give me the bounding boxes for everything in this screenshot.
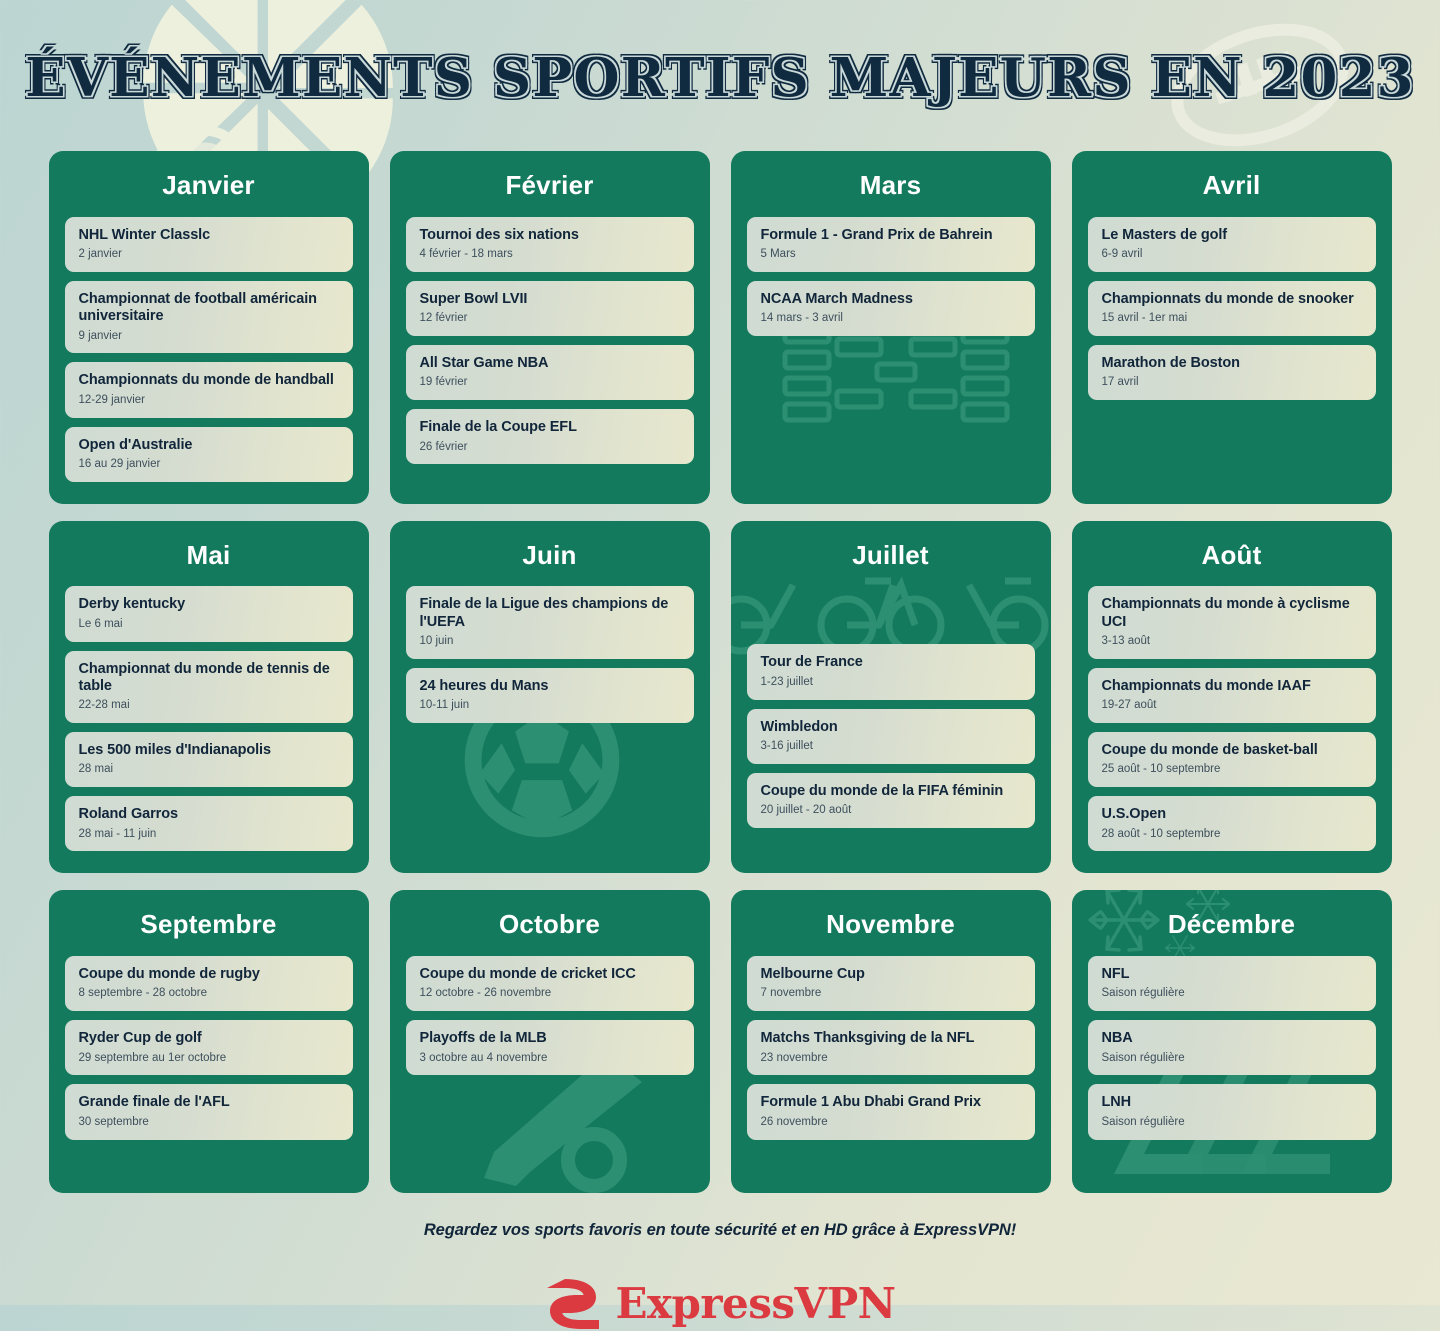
event-name: Matchs Thanksgiving de la NFL	[761, 1030, 1023, 1047]
event-date: Le 6 mai	[79, 618, 341, 632]
event-date: 4 février - 18 mars	[420, 248, 682, 262]
event-tile[interactable]: 24 heures du Mans 10-11 juin	[406, 668, 694, 723]
event-tile[interactable]: Les 500 miles d'Indianapolis 28 mai	[65, 732, 353, 787]
event-date: 28 mai - 11 juin	[79, 828, 341, 842]
event-date: Saison régulière	[1102, 1052, 1364, 1066]
event-tile[interactable]: Open d'Australie 16 au 29 janvier	[65, 427, 353, 482]
event-name: Open d'Australie	[79, 437, 341, 454]
event-name: LNH	[1102, 1094, 1364, 1111]
month-card-avril: Avril Le Masters de golf 6-9 avril Champ…	[1072, 151, 1392, 504]
event-date: 12 octobre - 26 novembre	[420, 987, 682, 1001]
month-title: Octobre	[406, 910, 694, 939]
event-date: 15 avril - 1er mai	[1102, 312, 1364, 326]
event-name: Finale de la Coupe EFL	[420, 419, 682, 436]
footer: Regardez vos sports favoris en toute séc…	[0, 1221, 1440, 1331]
event-tile[interactable]: Formule 1 Abu Dhabi Grand Prix 26 novemb…	[747, 1084, 1035, 1139]
event-name: Formule 1 - Grand Prix de Bahrein	[761, 227, 1023, 244]
event-date: 5 Mars	[761, 248, 1023, 262]
event-date: 3-13 août	[1102, 635, 1364, 649]
month-title: Septembre	[65, 910, 353, 939]
month-card-juin: Juin Finale de la Ligue des champions de…	[390, 521, 710, 874]
expressvpn-logo[interactable]: ExpressVPN	[0, 1277, 1440, 1331]
event-tile[interactable]: Coupe du monde de basket-ball 25 août - …	[1088, 732, 1376, 787]
event-tile[interactable]: U.S.Open 28 août - 10 septembre	[1088, 796, 1376, 851]
event-name: NCAA March Madness	[761, 291, 1023, 308]
event-date: Saison régulière	[1102, 1116, 1364, 1130]
event-name: Championnats du monde de handball	[79, 372, 341, 389]
event-date: 29 septembre au 1er octobre	[79, 1052, 341, 1066]
events-list: Coupe du monde de cricket ICC 12 octobre…	[406, 956, 694, 1075]
expressvpn-wordmark: ExpressVPN	[615, 1283, 895, 1325]
event-tile[interactable]: Coupe du monde de la FIFA féminin 20 jui…	[747, 773, 1035, 828]
event-tile[interactable]: Le Masters de golf 6-9 avril	[1088, 217, 1376, 272]
event-tile[interactable]: NFL Saison régulière	[1088, 956, 1376, 1011]
month-title: Décembre	[1088, 910, 1376, 939]
event-date: 1-23 juillet	[761, 676, 1023, 690]
event-date: 23 novembre	[761, 1052, 1023, 1066]
event-name: Le Masters de golf	[1102, 227, 1364, 244]
event-date: 7 novembre	[761, 987, 1023, 1001]
event-tile[interactable]: Championnats du monde de snooker 15 avri…	[1088, 281, 1376, 336]
month-card-mai: Mai Derby kentucky Le 6 mai Championnat …	[49, 521, 369, 874]
event-name: Marathon de Boston	[1102, 355, 1364, 372]
event-tile[interactable]: Derby kentucky Le 6 mai	[65, 586, 353, 641]
event-date: 17 avril	[1102, 376, 1364, 390]
event-date: 16 au 29 janvier	[79, 458, 341, 472]
event-date: 20 juillet - 20 août	[761, 804, 1023, 818]
event-name: NFL	[1102, 966, 1364, 983]
event-tile[interactable]: Tour de France 1-23 juillet	[747, 644, 1035, 699]
months-grid: Janvier NHL Winter Classlc 2 janvier Cha…	[0, 151, 1440, 1193]
event-name: Coupe du monde de basket-ball	[1102, 742, 1364, 759]
event-tile[interactable]: Super Bowl LVII 12 février	[406, 281, 694, 336]
events-list: NHL Winter Classlc 2 janvier Championnat…	[65, 217, 353, 482]
events-list: Finale de la Ligue des champions de l'UE…	[406, 586, 694, 723]
event-tile[interactable]: Matchs Thanksgiving de la NFL 23 novembr…	[747, 1020, 1035, 1075]
event-name: Ryder Cup de golf	[79, 1030, 341, 1047]
events-list: Coupe du monde de rugby 8 septembre - 28…	[65, 956, 353, 1140]
event-tile[interactable]: Championnats du monde de handball 12-29 …	[65, 362, 353, 417]
event-name: Coupe du monde de cricket ICC	[420, 966, 682, 983]
events-list: Melbourne Cup 7 novembre Matchs Thanksgi…	[747, 956, 1035, 1140]
event-date: 3 octobre au 4 novembre	[420, 1052, 682, 1066]
month-card-fevrier: Février Tournoi des six nations 4 févrie…	[390, 151, 710, 504]
event-name: U.S.Open	[1102, 806, 1364, 823]
month-title: Juin	[406, 541, 694, 570]
event-date: 26 février	[420, 441, 682, 455]
events-list: Championnats du monde à cyclisme UCI 3-1…	[1088, 586, 1376, 851]
event-name: Melbourne Cup	[761, 966, 1023, 983]
event-date: 12 février	[420, 312, 682, 326]
event-date: 25 août - 10 septembre	[1102, 763, 1364, 777]
month-card-septembre: Septembre Coupe du monde de rugby 8 sept…	[49, 890, 369, 1193]
month-title: Août	[1088, 541, 1376, 570]
event-date: 22-28 mai	[79, 699, 341, 713]
event-tile[interactable]: Finale de la Ligue des champions de l'UE…	[406, 586, 694, 659]
month-title: Novembre	[747, 910, 1035, 939]
event-name: NHL Winter Classlc	[79, 227, 341, 244]
month-title: Avril	[1088, 171, 1376, 200]
event-date: 9 janvier	[79, 330, 341, 344]
event-date: 19 février	[420, 376, 682, 390]
event-name: Formule 1 Abu Dhabi Grand Prix	[761, 1094, 1023, 1111]
event-name: Tour de France	[761, 654, 1023, 671]
event-name: Coupe du monde de la FIFA féminin	[761, 783, 1023, 800]
event-tile[interactable]: Championnat du monde de tennis de table …	[65, 651, 353, 724]
event-name: Coupe du monde de rugby	[79, 966, 341, 983]
event-name: Tournoi des six nations	[420, 227, 682, 244]
event-name: Championnats du monde IAAF	[1102, 678, 1364, 695]
event-name: Championnats du monde à cyclisme UCI	[1102, 596, 1364, 631]
month-title: Février	[406, 171, 694, 200]
footer-tagline: Regardez vos sports favoris en toute séc…	[0, 1221, 1440, 1240]
event-tile[interactable]: Finale de la Coupe EFL 26 février	[406, 409, 694, 464]
event-date: 14 mars - 3 avril	[761, 312, 1023, 326]
event-date: 19-27 août	[1102, 699, 1364, 713]
event-tile[interactable]: Championnats du monde IAAF 19-27 août	[1088, 668, 1376, 723]
month-card-janvier: Janvier NHL Winter Classlc 2 janvier Cha…	[49, 151, 369, 504]
event-name: Derby kentucky	[79, 596, 341, 613]
event-date: 2 janvier	[79, 248, 341, 262]
event-name: Roland Garros	[79, 806, 341, 823]
event-date: 26 novembre	[761, 1116, 1023, 1130]
event-name: Finale de la Ligue des champions de l'UE…	[420, 596, 682, 631]
event-date: 12-29 janvier	[79, 394, 341, 408]
event-date: 6-9 avril	[1102, 248, 1364, 262]
event-date: 10 juin	[420, 635, 682, 649]
event-date: 28 mai	[79, 763, 341, 777]
month-title: Juillet	[747, 541, 1035, 570]
event-name: Wimbledon	[761, 719, 1023, 736]
event-date: 28 août - 10 septembre	[1102, 828, 1364, 842]
event-tile[interactable]: Coupe du monde de cricket ICC 12 octobre…	[406, 956, 694, 1011]
event-tile[interactable]: Championnats du monde à cyclisme UCI 3-1…	[1088, 586, 1376, 659]
event-tile[interactable]: Grande finale de l'AFL 30 septembre	[65, 1084, 353, 1139]
event-tile[interactable]: Melbourne Cup 7 novembre	[747, 956, 1035, 1011]
event-tile[interactable]: Marathon de Boston 17 avril	[1088, 345, 1376, 400]
event-tile[interactable]: Roland Garros 28 mai - 11 juin	[65, 796, 353, 851]
event-name: Championnat de football américain univer…	[79, 291, 341, 326]
event-date: 30 septembre	[79, 1116, 341, 1130]
event-name: All Star Game NBA	[420, 355, 682, 372]
event-date: 8 septembre - 28 octobre	[79, 987, 341, 1001]
event-tile[interactable]: Ryder Cup de golf 29 septembre au 1er oc…	[65, 1020, 353, 1075]
event-tile[interactable]: Wimbledon 3-16 juillet	[747, 709, 1035, 764]
page-title: ÉVÉNEMENTS SPORTIFS MAJEURS EN 2023	[0, 0, 1440, 109]
event-name: 24 heures du Mans	[420, 678, 682, 695]
month-card-juillet: Juillet Tour de France 1-23 juillet Wimb…	[731, 521, 1051, 874]
event-tile[interactable]: Formule 1 - Grand Prix de Bahrein 5 Mars	[747, 217, 1035, 272]
event-name: Playoffs de la MLB	[420, 1030, 682, 1047]
events-list: Formule 1 - Grand Prix de Bahrein 5 Mars…	[747, 217, 1035, 336]
month-card-octobre: Octobre Coupe du monde de cricket ICC 12…	[390, 890, 710, 1193]
event-name: Super Bowl LVII	[420, 291, 682, 308]
event-name: Les 500 miles d'Indianapolis	[79, 742, 341, 759]
events-list: Derby kentucky Le 6 mai Championnat du m…	[65, 586, 353, 851]
month-card-mars: Mars Formule 1 - Grand Prix de Bahrein 5…	[731, 151, 1051, 504]
event-date: Saison régulière	[1102, 987, 1364, 1001]
month-title: Mai	[65, 541, 353, 570]
events-list: Tournoi des six nations 4 février - 18 m…	[406, 217, 694, 465]
month-card-novembre: Novembre Melbourne Cup 7 novembre Matchs…	[731, 890, 1051, 1193]
month-title: Janvier	[65, 171, 353, 200]
event-tile[interactable]: Championnat de football américain univer…	[65, 281, 353, 354]
expressvpn-mark-icon	[544, 1277, 602, 1331]
event-tile[interactable]: Coupe du monde de rugby 8 septembre - 28…	[65, 956, 353, 1011]
events-list: Tour de France 1-23 juillet Wimbledon 3-…	[747, 644, 1035, 828]
event-name: Championnats du monde de snooker	[1102, 291, 1364, 308]
event-tile[interactable]: NHL Winter Classlc 2 janvier	[65, 217, 353, 272]
event-date: 3-16 juillet	[761, 740, 1023, 754]
event-name: Grande finale de l'AFL	[79, 1094, 341, 1111]
event-name: NBA	[1102, 1030, 1364, 1047]
event-tile[interactable]: LNH Saison régulière	[1088, 1084, 1376, 1139]
month-card-aout: Août Championnats du monde à cyclisme UC…	[1072, 521, 1392, 874]
event-date: 10-11 juin	[420, 699, 682, 713]
event-name: Championnat du monde de tennis de table	[79, 661, 341, 696]
event-tile[interactable]: All Star Game NBA 19 février	[406, 345, 694, 400]
month-title: Mars	[747, 171, 1035, 200]
event-tile[interactable]: Playoffs de la MLB 3 octobre au 4 novemb…	[406, 1020, 694, 1075]
event-tile[interactable]: Tournoi des six nations 4 février - 18 m…	[406, 217, 694, 272]
event-tile[interactable]: NCAA March Madness 14 mars - 3 avril	[747, 281, 1035, 336]
month-card-decembre: Décembre NFL Saison régulière NBA Saison…	[1072, 890, 1392, 1193]
events-list: NFL Saison régulière NBA Saison régulièr…	[1088, 956, 1376, 1140]
event-tile[interactable]: NBA Saison régulière	[1088, 1020, 1376, 1075]
events-list: Le Masters de golf 6-9 avril Championnat…	[1088, 217, 1376, 401]
